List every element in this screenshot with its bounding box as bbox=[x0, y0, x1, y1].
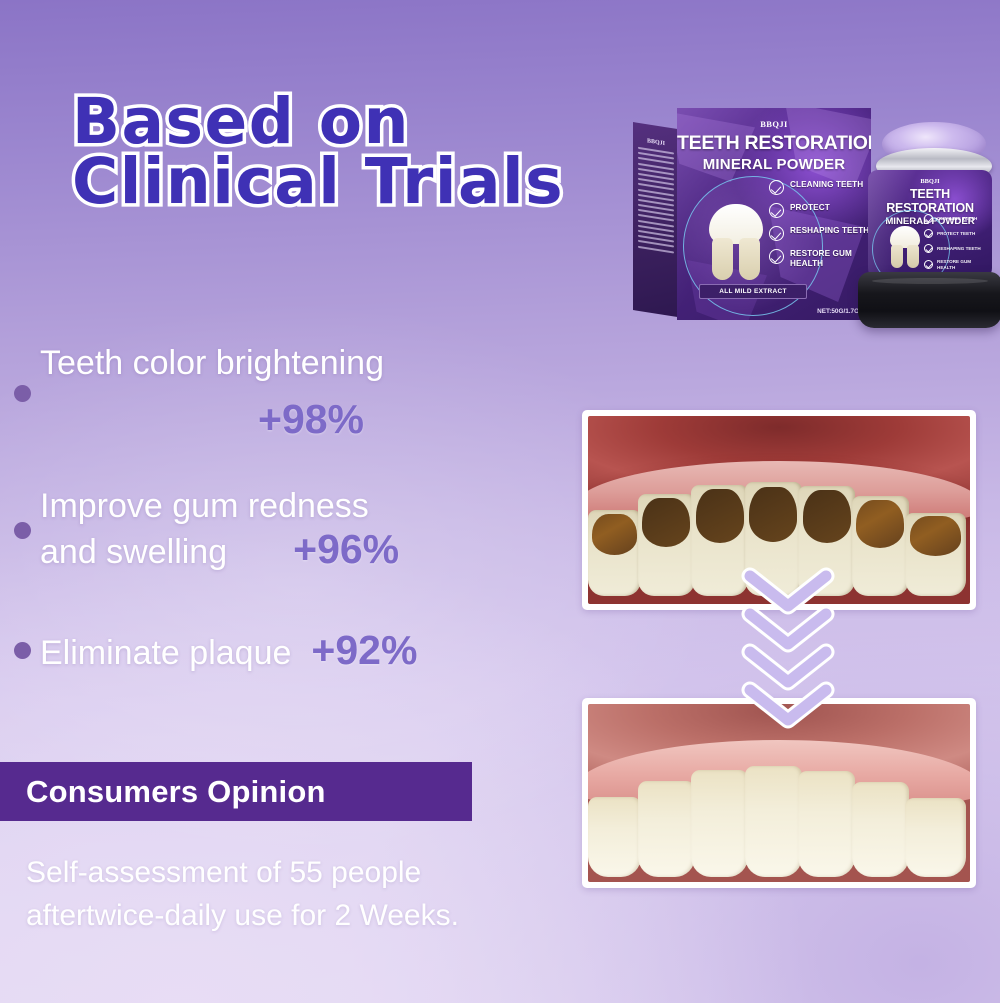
check-icon bbox=[924, 244, 933, 253]
chevron-down-icon bbox=[736, 680, 840, 736]
consumers-opinion-note: Self-assessment of 55 people aftertwice-… bbox=[26, 852, 586, 937]
benefit-percent: +96% bbox=[293, 526, 399, 573]
benefit-percent: +92% bbox=[311, 627, 417, 674]
benefit-item-plaque: Eliminate plaque +92% bbox=[14, 623, 554, 679]
jar-feature-item: PROTECT TEETH bbox=[924, 229, 990, 238]
check-icon bbox=[769, 180, 784, 195]
jar-feature-item: RESTORE GUM HEALTH bbox=[924, 259, 990, 270]
bullet-dot-icon bbox=[14, 522, 31, 539]
check-icon bbox=[924, 214, 933, 223]
jar-title: TEETH RESTORATION bbox=[868, 187, 992, 215]
benefit-label-line-2: and swelling bbox=[40, 533, 227, 571]
jar-feature-list: CLEANING TEETH PROTECT TEETH RESHAPING T… bbox=[924, 214, 990, 276]
tooth-icon bbox=[709, 204, 763, 280]
benefit-percent: +98% bbox=[258, 396, 364, 443]
note-line-2: aftertwice-daily use for 2 Weeks. bbox=[26, 895, 586, 938]
box-subtitle: MINERAL POWDER bbox=[677, 156, 871, 173]
tooth-icon bbox=[890, 226, 920, 268]
benefit-item-gum-redness: Improve gum redness and swelling +96% bbox=[14, 487, 554, 572]
consumers-opinion-title: Consumers Opinion bbox=[26, 774, 326, 810]
check-icon bbox=[924, 260, 933, 269]
check-icon bbox=[769, 249, 784, 264]
box-badge-mild-extract: ALL MILD EXTRACT bbox=[699, 284, 807, 299]
jar-label: BBQJI TEETH RESTORATION MINERAL POWDER C… bbox=[868, 170, 992, 282]
jar-feature-item: CLEANING TEETH bbox=[924, 214, 990, 223]
note-line-1: Self-assessment of 55 people bbox=[26, 852, 586, 895]
product-jar: BBQJI TEETH RESTORATION MINERAL POWDER C… bbox=[850, 122, 990, 322]
box-brand: BBQJI bbox=[677, 119, 871, 129]
benefit-label: Teeth color brightening bbox=[40, 344, 384, 382]
benefit-label-line-1: Improve gum redness bbox=[40, 487, 399, 525]
check-icon bbox=[769, 203, 784, 218]
benefits-list: Teeth color brightening +98% Improve gum… bbox=[14, 344, 554, 679]
jar-feature-item: RESHAPING TEETH bbox=[924, 244, 990, 253]
product-box-side-panel: BBQJI bbox=[633, 122, 679, 317]
page-title: Based on Clinical Trials bbox=[38, 92, 658, 213]
product-image: BBQJI BBQJI TEETH RESTORATION MINERAL PO… bbox=[628, 100, 1000, 330]
benefit-label: Eliminate plaque bbox=[40, 634, 291, 672]
teeth-row bbox=[588, 763, 970, 877]
headline-line-2: Clinical Trials bbox=[72, 152, 658, 212]
product-box: BBQJI BBQJI TEETH RESTORATION MINERAL PO… bbox=[633, 108, 871, 320]
transition-arrows bbox=[736, 566, 846, 742]
bullet-dot-icon bbox=[14, 385, 31, 402]
consumers-opinion-banner: Consumers Opinion bbox=[0, 762, 472, 821]
headline-line-1: Based on bbox=[72, 92, 658, 152]
check-icon bbox=[924, 229, 933, 238]
box-side-fine-print bbox=[633, 142, 679, 254]
jar-base bbox=[858, 272, 1000, 328]
jar-brand: BBQJI bbox=[868, 178, 992, 185]
product-box-front: BBQJI TEETH RESTORATION MINERAL POWDER A… bbox=[677, 108, 871, 320]
benefit-item-brightening: Teeth color brightening +98% bbox=[14, 344, 554, 443]
bullet-dot-icon bbox=[14, 642, 31, 659]
box-title: TEETH RESTORATION bbox=[677, 132, 871, 155]
check-icon bbox=[769, 226, 784, 241]
